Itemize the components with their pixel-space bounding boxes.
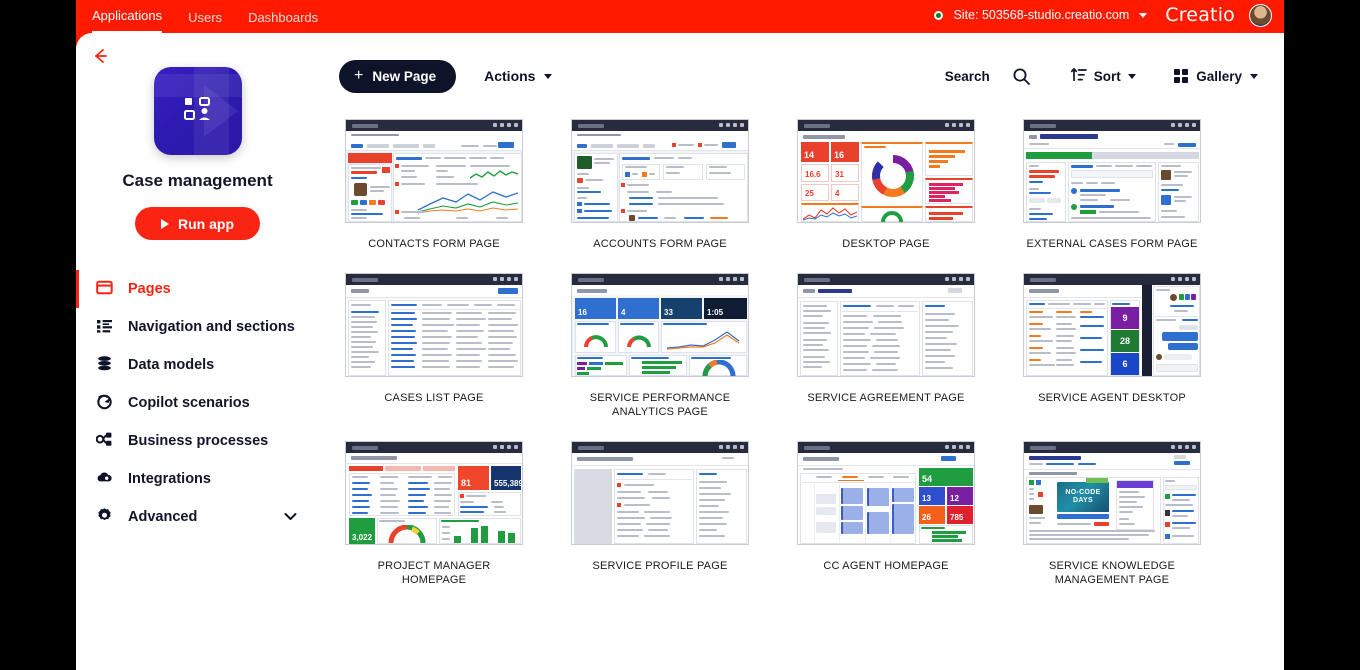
site-chevron-down-icon[interactable]: [1139, 13, 1147, 18]
copilot-icon: [96, 393, 113, 414]
page-thumbnail-contacts-form[interactable]: [345, 119, 523, 223]
page-thumbnail-service-agreement[interactable]: [797, 273, 975, 377]
page-card[interactable]: 81 555,389... 3,022: [345, 441, 523, 587]
user-avatar[interactable]: [1249, 4, 1272, 27]
pages-gallery-grid: CONTACTS FORM PAGE: [339, 119, 1258, 609]
chevron-down-icon: [544, 74, 552, 79]
page-card-label: EXTERNAL CASES FORM PAGE: [1023, 237, 1201, 251]
sidebar-item-copilot-scenarios[interactable]: Copilot scenarios: [76, 384, 319, 422]
toolbar: + New Page Actions Search: [339, 33, 1258, 119]
gallery-button[interactable]: Gallery: [1174, 69, 1258, 84]
sidebar-item-advanced[interactable]: Advanced: [76, 498, 319, 536]
case-management-app-icon: [154, 67, 242, 155]
page-card[interactable]: NO-CODE DAYS: [1023, 441, 1201, 587]
page-card[interactable]: CONTACTS FORM PAGE: [345, 119, 523, 251]
sidebar-item-navigation-and-sections[interactable]: Navigation and sections: [76, 308, 319, 346]
actions-label: Actions: [484, 68, 535, 84]
page-card[interactable]: CASES LIST PAGE: [345, 273, 523, 419]
page-card[interactable]: 9 28 6: [1023, 273, 1201, 419]
no-code-days-banner-text: NO-CODE DAYS: [1060, 489, 1106, 505]
back-arrow-icon[interactable]: [89, 45, 111, 67]
sidebar-item-label: Advanced: [128, 509, 197, 525]
plus-icon: +: [354, 68, 363, 84]
page-thumbnail-service-profile[interactable]: [571, 441, 749, 545]
sidebar-item-label: Navigation and sections: [128, 319, 295, 335]
page-card[interactable]: SERVICE PROFILE PAGE: [571, 441, 749, 587]
app-icon-wrap: [76, 67, 319, 155]
page-thumbnail-project-manager[interactable]: 81 555,389... 3,022: [345, 441, 523, 545]
main-content: + New Page Actions Search: [319, 33, 1284, 670]
page-thumbnail-knowledge-mgmt[interactable]: NO-CODE DAYS: [1023, 441, 1201, 545]
site-status-indicator-icon: [934, 11, 943, 20]
page-thumbnail-external-cases[interactable]: [1023, 119, 1201, 223]
play-icon: [161, 219, 169, 229]
sidebar-item-label: Data models: [128, 357, 214, 373]
sort-label: Sort: [1094, 69, 1121, 84]
top-bar: Applications Users Dashboards Site: 5035…: [76, 0, 1284, 33]
page-card-label: CC AGENT HOMEPAGE: [797, 559, 975, 573]
pages-icon: [96, 279, 113, 300]
sidebar-item-label: Pages: [128, 281, 171, 297]
sidebar: Case management Run app Pages: [76, 33, 319, 670]
actions-menu[interactable]: Actions: [484, 68, 552, 84]
top-navigation: Applications Users Dashboards: [76, 0, 318, 33]
page-card[interactable]: 54 13 12 26 785 CC AGENT HOMEPAGE: [797, 441, 975, 587]
page-card-label: SERVICE PERFORMANCE ANALYTICS PAGE: [571, 391, 749, 419]
chevron-down-icon: [1128, 74, 1136, 79]
creatio-application-window: Applications Users Dashboards Site: 5035…: [76, 0, 1284, 670]
page-card[interactable]: 14 16 16.6 31 25 4: [797, 119, 975, 251]
run-app-wrap: Run app: [76, 207, 319, 240]
page-thumbnail-accounts-form[interactable]: [571, 119, 749, 223]
top-nav-users[interactable]: Users: [188, 11, 222, 33]
list-icon: [96, 317, 113, 338]
sidebar-item-label: Business processes: [128, 433, 268, 449]
sidebar-item-integrations[interactable]: Integrations: [76, 460, 319, 498]
chevron-down-icon[interactable]: [284, 509, 297, 525]
toolbar-right: Search: [945, 67, 1258, 86]
cloud-icon: [96, 469, 113, 490]
page-thumbnail-cases-list[interactable]: [345, 273, 523, 377]
database-icon: [96, 355, 113, 376]
run-app-button[interactable]: Run app: [135, 207, 260, 240]
page-card-label: SERVICE PROFILE PAGE: [571, 559, 749, 573]
gallery-grid-icon: [1174, 69, 1189, 84]
site-label[interactable]: Site: 503568-studio.creatio.com: [953, 8, 1129, 22]
page-card-label: SERVICE AGREEMENT PAGE: [797, 391, 975, 405]
sidebar-nav-list: Pages Navigation a: [76, 270, 319, 536]
sidebar-item-label: Integrations: [128, 471, 211, 487]
page-card[interactable]: ACCOUNTS FORM PAGE: [571, 119, 749, 251]
page-thumbnail-agent-desktop[interactable]: 9 28 6: [1023, 273, 1201, 377]
page-thumbnail-desktop[interactable]: 14 16 16.6 31 25 4: [797, 119, 975, 223]
sidebar-item-label: Copilot scenarios: [128, 395, 250, 411]
process-icon: [96, 431, 113, 452]
page-card-label: SERVICE KNOWLEDGE MANAGEMENT PAGE: [1023, 559, 1201, 587]
sidebar-item-pages[interactable]: Pages: [76, 270, 319, 308]
sidebar-item-business-processes[interactable]: Business processes: [76, 422, 319, 460]
page-thumbnail-cc-agent[interactable]: 54 13 12 26 785: [797, 441, 975, 545]
run-app-label: Run app: [178, 216, 234, 232]
gallery-label: Gallery: [1196, 69, 1242, 84]
creatio-logo: Creatio: [1165, 4, 1235, 26]
top-nav-applications[interactable]: Applications: [92, 9, 162, 33]
top-bar-right: Site: 503568-studio.creatio.com Creatio: [934, 4, 1284, 30]
sort-icon: [1071, 67, 1087, 86]
top-nav-dashboards[interactable]: Dashboards: [248, 11, 318, 33]
new-page-label: New Page: [372, 69, 436, 84]
page-thumbnail-service-analytics[interactable]: 16 4 33 1:05: [571, 273, 749, 377]
gear-icon: [96, 507, 113, 528]
page-card[interactable]: 16 4 33 1:05: [571, 273, 749, 419]
page-card-label: ACCOUNTS FORM PAGE: [571, 237, 749, 251]
page-card-label: CONTACTS FORM PAGE: [345, 237, 523, 251]
search-icon[interactable]: [1012, 67, 1031, 86]
search-label[interactable]: Search: [945, 69, 990, 84]
new-page-button[interactable]: + New Page: [339, 60, 456, 93]
page-card[interactable]: SERVICE AGREEMENT PAGE: [797, 273, 975, 419]
page-card-label: SERVICE AGENT DESKTOP: [1023, 391, 1201, 405]
page-card-label: PROJECT MANAGER HOMEPAGE: [345, 559, 523, 587]
app-title: Case management: [76, 171, 319, 191]
sidebar-item-data-models[interactable]: Data models: [76, 346, 319, 384]
page-card[interactable]: EXTERNAL CASES FORM PAGE: [1023, 119, 1201, 251]
chevron-down-icon: [1250, 74, 1258, 79]
sort-button[interactable]: Sort: [1071, 67, 1136, 86]
app-shell: Case management Run app Pages: [76, 33, 1284, 670]
page-card-label: CASES LIST PAGE: [345, 391, 523, 405]
page-card-label: DESKTOP PAGE: [797, 237, 975, 251]
